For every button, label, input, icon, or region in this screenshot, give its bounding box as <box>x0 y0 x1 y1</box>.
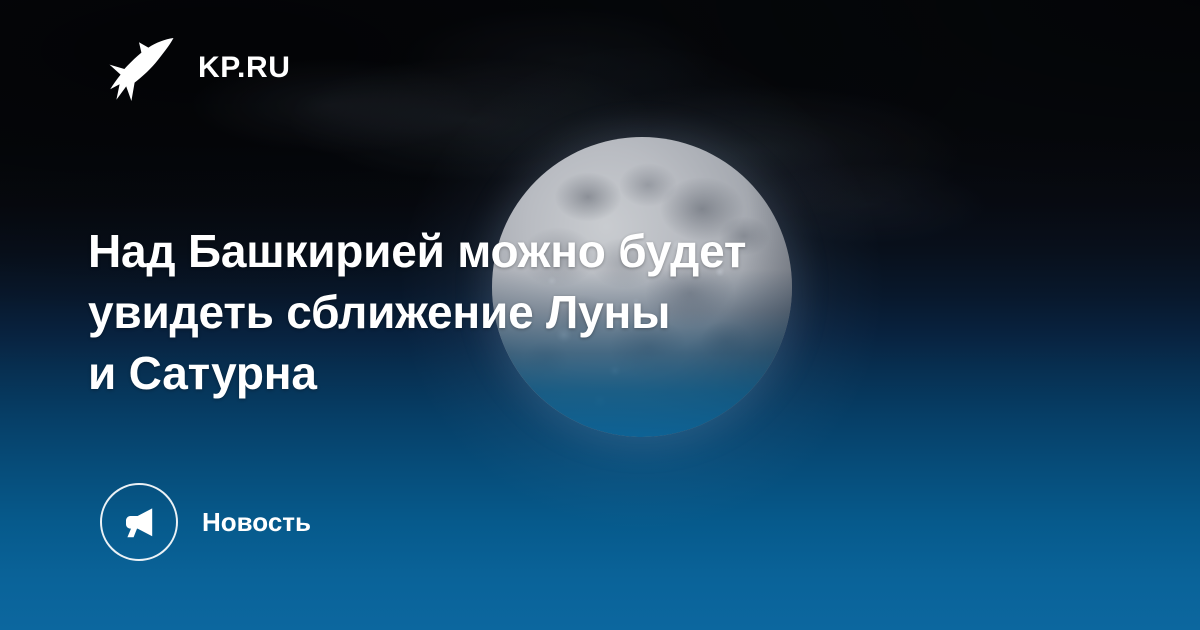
news-type-badge: Новость <box>100 483 311 561</box>
site-logo-text: KP.RU <box>198 53 290 83</box>
megaphone-icon <box>119 502 159 542</box>
headline: Над Башкирией можно будет увидеть сближе… <box>88 221 988 404</box>
site-logo[interactable]: KP.RU <box>106 33 290 103</box>
kp-ru-share-card: KP.RU Над Башкирией можно будет увидеть … <box>0 0 1200 630</box>
swallow-bird-logo-icon <box>106 33 176 103</box>
headline-line-1: Над Башкирией можно будет <box>88 221 988 282</box>
headline-line-2: увидеть сближение Луны <box>88 282 988 343</box>
news-type-label: Новость <box>202 509 311 535</box>
headline-line-3: и Сатурна <box>88 343 988 404</box>
megaphone-icon-circle <box>100 483 178 561</box>
